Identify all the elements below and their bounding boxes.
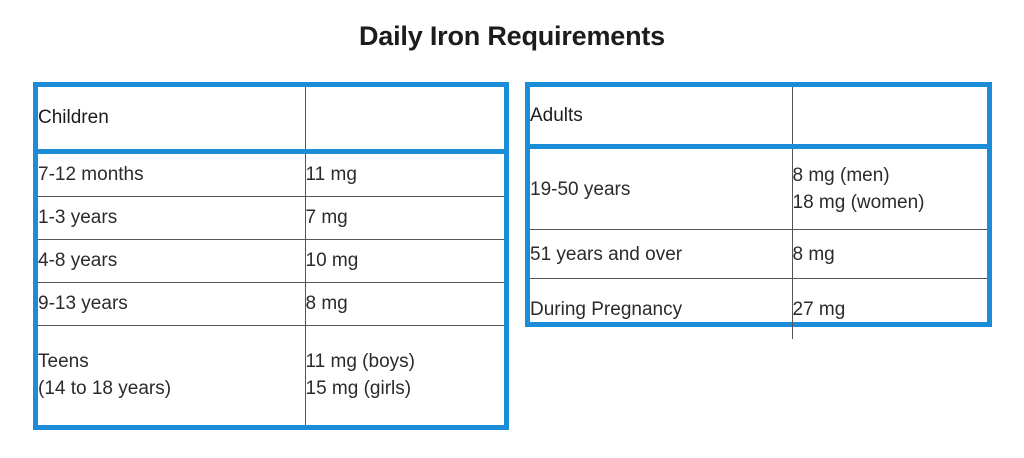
row-value: 11 mg [305, 151, 504, 196]
table-row: 7-12 months 11 mg [38, 151, 504, 196]
table-header-row: Children [38, 87, 504, 151]
table-header-row: Adults [530, 87, 987, 147]
row-label: During Pregnancy [530, 279, 792, 340]
row-label: 7-12 months [38, 151, 305, 196]
row-value-line-2: 18 mg (women) [793, 189, 988, 216]
row-value: 11 mg (boys) 15 mg (girls) [305, 325, 504, 425]
row-label: 51 years and over [530, 230, 792, 279]
row-label: 9-13 years [38, 282, 305, 325]
row-value-line-1: 8 mg (men) [793, 162, 988, 189]
table-row: 4-8 years 10 mg [38, 239, 504, 282]
row-value: 7 mg [305, 196, 504, 239]
table-row: 51 years and over 8 mg [530, 230, 987, 279]
adults-header-label: Adults [530, 87, 792, 147]
adults-table-grid: Adults 19-50 years 8 mg (men) 18 mg (wom… [530, 87, 987, 339]
row-value: 8 mg [305, 282, 504, 325]
row-label-line-1: Teens [38, 348, 305, 375]
row-value-line-1: 11 mg (boys) [306, 348, 505, 375]
row-value: 27 mg [792, 279, 987, 340]
row-value: 8 mg (men) 18 mg (women) [792, 147, 987, 230]
table-row: 1-3 years 7 mg [38, 196, 504, 239]
table-row: Teens (14 to 18 years) 11 mg (boys) 15 m… [38, 325, 504, 425]
children-header-blank [305, 87, 504, 151]
page-title: Daily Iron Requirements [0, 19, 1024, 53]
children-header-label: Children [38, 87, 305, 151]
row-label: 1-3 years [38, 196, 305, 239]
adults-header-blank [792, 87, 987, 147]
row-label: 19-50 years [530, 147, 792, 230]
children-requirements-table: Children 7-12 months 11 mg 1-3 years 7 m… [33, 82, 509, 430]
row-label-line-2: (14 to 18 years) [38, 375, 305, 402]
row-value: 10 mg [305, 239, 504, 282]
table-row: 19-50 years 8 mg (men) 18 mg (women) [530, 147, 987, 230]
row-label: 4-8 years [38, 239, 305, 282]
row-value: 8 mg [792, 230, 987, 279]
table-row: During Pregnancy 27 mg [530, 279, 987, 340]
adults-requirements-table: Adults 19-50 years 8 mg (men) 18 mg (wom… [525, 82, 992, 327]
table-row: 9-13 years 8 mg [38, 282, 504, 325]
row-label: Teens (14 to 18 years) [38, 325, 305, 425]
children-table-grid: Children 7-12 months 11 mg 1-3 years 7 m… [38, 87, 504, 425]
row-value-line-2: 15 mg (girls) [306, 375, 505, 402]
